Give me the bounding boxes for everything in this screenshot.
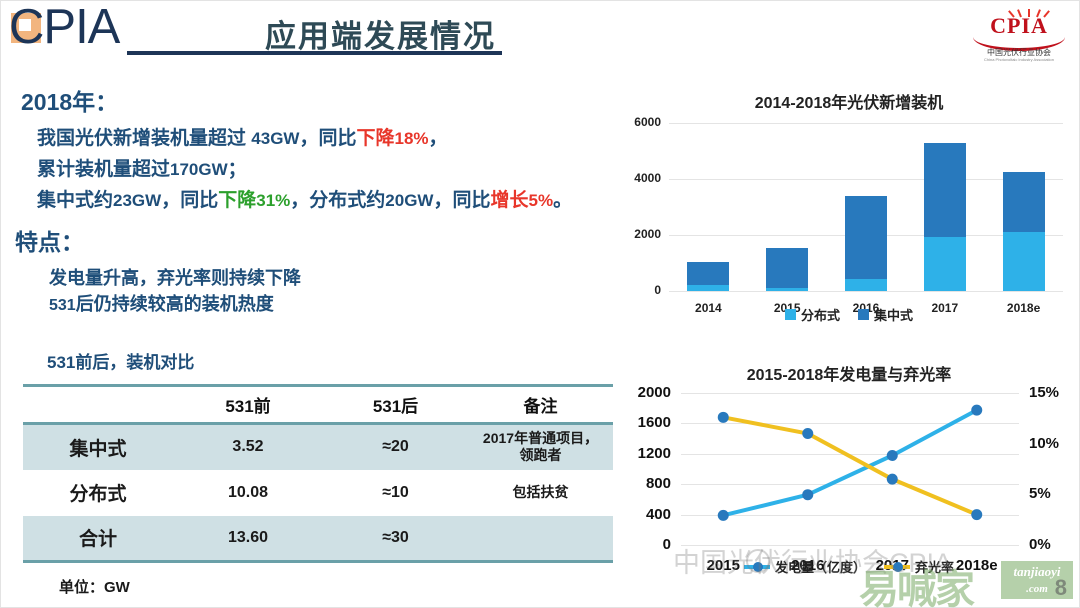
feature-line-2: 531后仍持续较高的装机热度 bbox=[49, 291, 301, 319]
legend-item-distributed: 分布式 bbox=[785, 305, 840, 324]
table-cell-note: 2017年普通项目， 领跑者 bbox=[468, 424, 613, 470]
table-row: 集中式 3.52 ≈20 2017年普通项目， 领跑者 bbox=[23, 424, 613, 470]
chart-generation-curtailment: 2015-2018年发电量与弃光率 04008001200160020000%5… bbox=[623, 359, 1075, 603]
legend-label-centralized: 集中式 bbox=[874, 305, 913, 324]
logo-sun-rays-icon bbox=[1013, 7, 1047, 17]
summary-text-block: 我国光伏新增装机量超过 43GW，同比下降18%， 累计装机量超过170GW； … bbox=[37, 123, 572, 216]
legend-label-generation: 发电量（亿度） bbox=[775, 557, 866, 576]
legend-marker-curtailment bbox=[884, 565, 910, 569]
data-point bbox=[887, 450, 898, 461]
chart-installations-legend: 分布式 集中式 bbox=[623, 305, 1075, 324]
cpia-logo-right-en: China Photovoltaic Industry Association bbox=[967, 58, 1071, 63]
table-body: 集中式 3.52 ≈20 2017年普通项目， 领跑者 分布式 10.08 ≈1… bbox=[23, 424, 613, 562]
chart-installations: 2014-2018年光伏新增装机 02000400060002014201520… bbox=[623, 87, 1075, 335]
cpia-logo-right-cn: 中国光伏行业协会 bbox=[967, 48, 1071, 57]
legend-label-curtailment: 弃光率 bbox=[915, 557, 954, 576]
legend-marker-generation bbox=[744, 565, 770, 569]
bar-segment-centralized bbox=[845, 196, 887, 279]
bar-segment-centralized bbox=[687, 262, 729, 286]
legend-item-generation: 发电量（亿度） bbox=[744, 557, 866, 576]
comparison-table: 531前 531后 备注 集中式 3.52 ≈20 2017年普通项目， 领跑者… bbox=[23, 384, 613, 563]
slide-root: CPIA 应用端发展情况 CPIA 中国光伏行业协会 China Photovo… bbox=[0, 0, 1080, 608]
bar-segment-centralized bbox=[924, 143, 966, 237]
cpia-logo-right: CPIA 中国光伏行业协会 China Photovoltaic Industr… bbox=[967, 5, 1071, 59]
y-tick-label: 6000 bbox=[623, 115, 661, 129]
table-cell-note bbox=[468, 516, 613, 562]
legend-swatch-centralized bbox=[858, 309, 869, 320]
bar-segment-distributed bbox=[845, 279, 887, 291]
table-cell-after: ≈10 bbox=[323, 470, 468, 516]
feature-text-block: 发电量升高，弃光率则持续下降 531后仍持续较高的装机热度 bbox=[49, 265, 301, 319]
table-header: 531前 531后 备注 bbox=[23, 386, 613, 424]
data-point bbox=[802, 489, 813, 500]
page-title: 应用端发展情况 bbox=[265, 11, 496, 56]
gridline bbox=[669, 123, 1063, 124]
legend-swatch-distributed bbox=[785, 309, 796, 320]
legend-label-distributed: 分布式 bbox=[801, 305, 840, 324]
chart-generation-legend: 发电量（亿度） 弃光率 bbox=[623, 557, 1075, 576]
cpia-logo-left-text: CPIA bbox=[9, 0, 119, 55]
summary-line-2: 累计装机量超过170GW； bbox=[37, 154, 572, 185]
table-cell-note: 包括扶贫 bbox=[468, 470, 613, 516]
table-cell-label: 合计 bbox=[23, 516, 173, 562]
year-heading: 2018年： bbox=[21, 83, 118, 117]
bar-segment-distributed bbox=[687, 285, 729, 291]
table-col-header-1: 531前 bbox=[173, 386, 323, 424]
table-cell-label: 分布式 bbox=[23, 470, 173, 516]
y-tick-label: 4000 bbox=[623, 171, 661, 185]
table-cell-label: 集中式 bbox=[23, 424, 173, 470]
table-header-row: 531前 531后 备注 bbox=[23, 386, 613, 424]
cpia-logo-right-acronym: CPIA bbox=[967, 15, 1071, 37]
data-point bbox=[802, 428, 813, 439]
table-cell-after: ≈30 bbox=[323, 516, 468, 562]
data-point bbox=[971, 509, 982, 520]
data-point bbox=[971, 405, 982, 416]
table-col-header-3: 备注 bbox=[468, 386, 613, 424]
y-tick-label: 2000 bbox=[623, 227, 661, 241]
table-cell-before: 10.08 bbox=[173, 470, 323, 516]
bar-segment-distributed bbox=[1003, 232, 1045, 291]
data-point bbox=[718, 412, 729, 423]
table-row: 合计 13.60 ≈30 bbox=[23, 516, 613, 562]
summary-line-1: 我国光伏新增装机量超过 43GW，同比下降18%， bbox=[37, 123, 572, 154]
bar-segment-centralized bbox=[766, 248, 808, 287]
table-cell-after: ≈20 bbox=[323, 424, 468, 470]
compare-heading: 531前后，装机对比 bbox=[47, 348, 194, 373]
summary-line-3: 集中式约23GW，同比下降31%，分布式约20GW，同比增长5%。 bbox=[37, 185, 572, 216]
data-point bbox=[718, 510, 729, 521]
bar-segment-centralized bbox=[1003, 172, 1045, 232]
title-underline bbox=[127, 51, 502, 55]
table-col-header-0 bbox=[23, 386, 173, 424]
data-point bbox=[887, 474, 898, 485]
y-tick-label: 0 bbox=[623, 283, 661, 297]
gridline bbox=[669, 291, 1063, 292]
legend-item-curtailment: 弃光率 bbox=[884, 557, 954, 576]
table-cell-before: 3.52 bbox=[173, 424, 323, 470]
chart-installations-title: 2014-2018年光伏新增装机 bbox=[623, 89, 1075, 113]
table-unit-note: 单位：GW bbox=[59, 576, 130, 597]
cpia-logo-left: CPIA bbox=[9, 5, 209, 57]
legend-item-centralized: 集中式 bbox=[858, 305, 913, 324]
table-row: 分布式 10.08 ≈10 包括扶贫 bbox=[23, 470, 613, 516]
table-cell-before: 13.60 bbox=[173, 516, 323, 562]
feature-line-1: 发电量升高，弃光率则持续下降 bbox=[49, 265, 301, 291]
table-col-header-2: 531后 bbox=[323, 386, 468, 424]
bar-segment-distributed bbox=[766, 288, 808, 291]
bar-segment-distributed bbox=[924, 237, 966, 291]
feature-heading: 特点： bbox=[15, 223, 84, 257]
page-number: 8 bbox=[1055, 575, 1067, 601]
